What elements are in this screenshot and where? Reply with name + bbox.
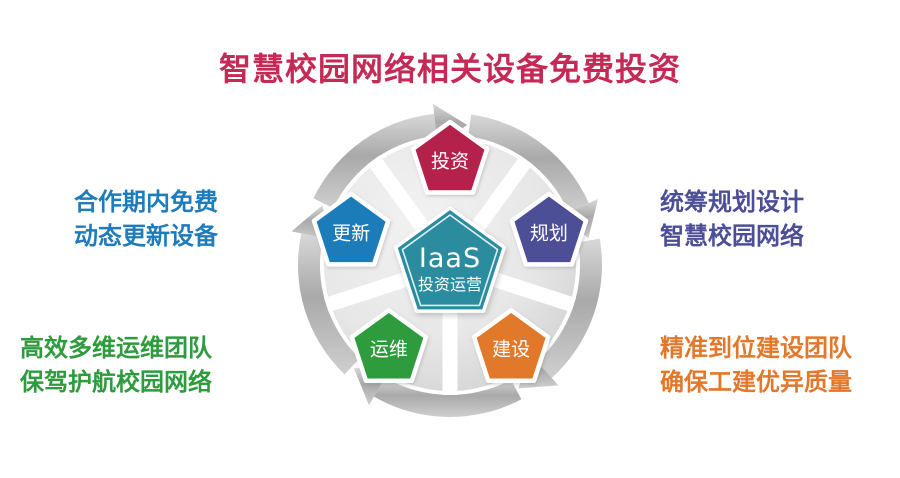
caption-build-line1: 精准到位建设团队: [660, 331, 852, 365]
caption-update-line2: 动态更新设备: [74, 219, 218, 253]
pentagon-label: 投资: [431, 151, 469, 173]
caption-ops: 高效多维运维团队 保驾护航校园网络: [20, 331, 212, 399]
caption-plan: 统筹规划设计 智慧校园网络: [660, 185, 804, 253]
infographic-canvas: 智慧校园网络相关设备免费投资 合作期内免费 动态更新设备 统筹规划设计 智慧校园…: [0, 0, 900, 478]
pentagon-label: 规划: [530, 222, 568, 244]
page-title: 智慧校园网络相关设备免费投资: [0, 44, 900, 90]
caption-plan-line1: 统筹规划设计: [660, 185, 804, 219]
pentagon-wheel-diagram: 投资规划建设运维更新 IaaS投资运营: [283, 98, 617, 432]
hub-subtitle: 投资运营: [418, 275, 482, 294]
caption-build-line2: 确保工建优异质量: [660, 365, 852, 399]
caption-update-line1: 合作期内免费: [74, 185, 218, 219]
caption-ops-line1: 高效多维运维团队: [20, 331, 212, 365]
hub-title: IaaS: [419, 243, 481, 274]
pentagon-label: 运维: [370, 339, 408, 361]
caption-ops-line2: 保驾护航校园网络: [20, 365, 212, 399]
caption-update: 合作期内免费 动态更新设备: [74, 185, 218, 253]
caption-plan-line2: 智慧校园网络: [660, 219, 804, 253]
pentagon-label: 建设: [492, 339, 530, 361]
caption-build: 精准到位建设团队 确保工建优异质量: [660, 331, 852, 399]
pentagon-label: 更新: [332, 222, 370, 244]
